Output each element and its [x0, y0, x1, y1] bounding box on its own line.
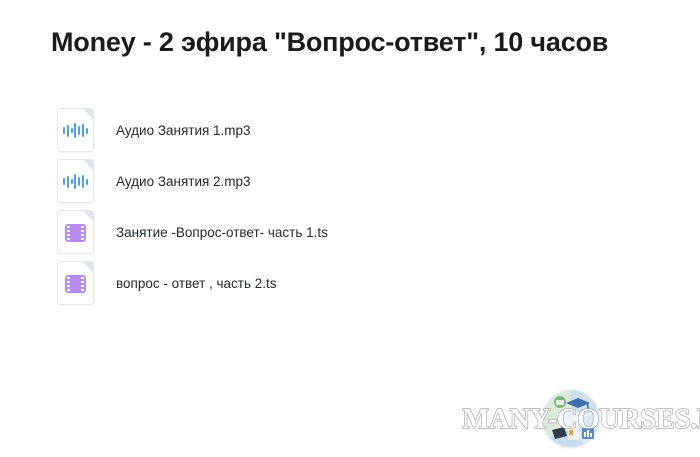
file-name: Занятие -Вопрос-ответ- часть 1.ts — [116, 225, 328, 240]
list-item[interactable]: вопрос - ответ , часть 2.ts — [57, 261, 477, 305]
corner-fold-icon — [83, 211, 93, 221]
video-file-icon — [57, 210, 94, 254]
waveform-icon — [63, 123, 88, 138]
file-name: Аудио Занятия 1.mp3 — [116, 123, 251, 138]
corner-fold-icon — [83, 262, 93, 272]
watermark: MANY-COURSES.NET — [462, 386, 700, 452]
list-item[interactable]: Аудио Занятия 2.mp3 — [57, 159, 477, 203]
film-strip-icon — [65, 224, 86, 242]
list-item[interactable]: Аудио Занятия 1.mp3 — [57, 108, 477, 152]
audio-file-icon — [57, 159, 94, 203]
film-strip-icon — [65, 275, 86, 293]
corner-fold-icon — [83, 109, 93, 119]
list-item[interactable]: Занятие -Вопрос-ответ- часть 1.ts — [57, 210, 477, 254]
video-file-icon — [57, 261, 94, 305]
waveform-icon — [63, 174, 88, 189]
watermark-text: MANY-COURSES.NET — [462, 403, 700, 436]
corner-fold-icon — [83, 160, 93, 170]
file-list: Аудио Занятия 1.mp3 Аудио Занятия 2.mp3 … — [57, 108, 477, 312]
file-name: Аудио Занятия 2.mp3 — [116, 174, 251, 189]
file-name: вопрос - ответ , часть 2.ts — [116, 276, 277, 291]
audio-file-icon — [57, 108, 94, 152]
page-title: Money - 2 эфира "Вопрос-ответ", 10 часов — [51, 27, 608, 58]
